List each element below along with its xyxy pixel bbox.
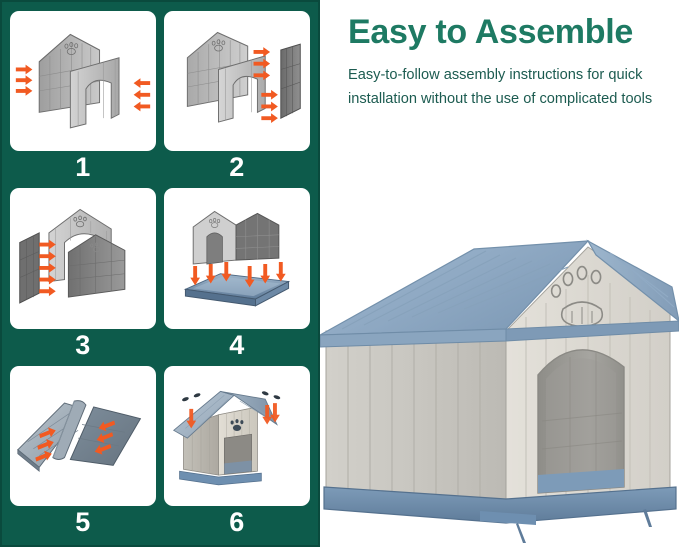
step-card-2[interactable] (164, 11, 310, 151)
step-number-2: 2 (164, 151, 310, 184)
step-card-1[interactable] (10, 11, 156, 151)
step-6-illustration (164, 366, 310, 506)
step-cell-4: 4 (164, 188, 310, 361)
assembly-arrows-left (16, 65, 33, 96)
step-2-illustration (164, 11, 310, 151)
step-4-illustration (164, 188, 310, 328)
step-number-5: 5 (10, 506, 156, 539)
front-wall (219, 407, 258, 475)
infographic-root: 1 (0, 0, 679, 550)
side-panel-incoming (20, 233, 39, 303)
wall-assembly (193, 212, 279, 265)
steps-row-2: 3 (10, 188, 310, 361)
door-opening (538, 350, 624, 493)
base-plate (185, 274, 288, 306)
step-5-illustration (10, 366, 156, 506)
step-card-5[interactable] (10, 366, 156, 506)
steps-row-3: 5 (10, 366, 310, 539)
step-3-illustration (10, 188, 156, 328)
step-cell-1: 1 (10, 11, 156, 184)
step-number-6: 6 (164, 506, 310, 539)
step-card-6[interactable] (164, 366, 310, 506)
step-card-4[interactable] (164, 188, 310, 328)
assembly-arrows-lower (261, 90, 278, 123)
step-1-illustration (10, 11, 156, 151)
step-cell-2: 2 (164, 11, 310, 184)
step-number-3: 3 (10, 329, 156, 362)
dog-house-illustration (320, 225, 679, 550)
product-hero-image (320, 225, 679, 550)
step-cell-3: 3 (10, 188, 156, 361)
left-side-wall (326, 331, 506, 503)
content-panel: Easy to Assemble Easy-to-follow assembly… (320, 0, 679, 550)
step-number-4: 4 (164, 329, 310, 362)
description-text: Easy-to-follow assembly instructions for… (348, 64, 664, 111)
side-panel-incoming (281, 44, 300, 118)
assembly-steps-panel: 1 (0, 0, 320, 547)
step-cell-6: 6 (164, 366, 310, 539)
steps-row-1: 1 (10, 11, 310, 184)
assembly-arrows-upper (254, 47, 271, 80)
page-title: Easy to Assemble (348, 13, 633, 52)
back-gable-panel (68, 235, 124, 297)
step-number-1: 1 (10, 151, 156, 184)
assembly-arrows-right (134, 78, 151, 111)
step-cell-5: 5 (10, 366, 156, 539)
step-card-3[interactable] (10, 188, 156, 328)
